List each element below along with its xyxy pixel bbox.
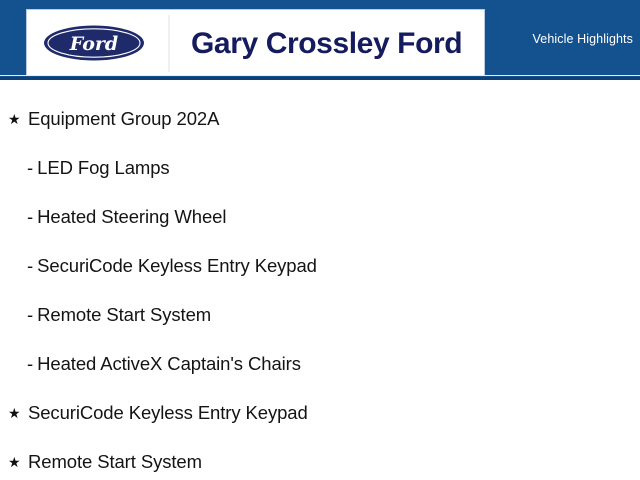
highlight-label: SecuriCode Keyless Entry Keypad <box>37 255 317 277</box>
highlight-row: -LED Fog Lamps <box>0 143 640 192</box>
highlight-label: Equipment Group 202A <box>28 108 219 130</box>
dash-prefix: - <box>27 157 33 179</box>
logo-divider <box>168 15 170 72</box>
highlight-label: LED Fog Lamps <box>37 157 169 179</box>
dash-prefix: - <box>27 353 33 375</box>
dash-prefix: - <box>27 304 33 326</box>
highlight-label: Remote Start System <box>37 304 211 326</box>
highlight-row: -Heated Steering Wheel <box>0 192 640 241</box>
highlight-label: Remote Start System <box>28 451 202 473</box>
svg-text:Ford: Ford <box>69 33 118 55</box>
star-bullet-icon: ★ <box>8 455 28 469</box>
star-bullet-icon: ★ <box>8 406 28 420</box>
dash-prefix: - <box>27 206 33 228</box>
highlight-row: ★SecuriCode Keyless Entry Keypad <box>0 388 640 437</box>
highlight-label: Heated ActiveX Captain's Chairs <box>37 353 301 375</box>
ford-oval-logo-icon: Ford <box>43 24 145 62</box>
dash-prefix: - <box>27 255 33 277</box>
highlight-row: -Heated ActiveX Captain's Chairs <box>0 339 640 388</box>
dealer-logo-panel[interactable]: Ford Gary Crossley Ford <box>26 9 485 76</box>
vehicle-highlights-page: Ford Gary Crossley Ford Vehicle Highligh… <box>0 0 640 480</box>
page-title: Vehicle Highlights <box>533 32 633 46</box>
highlight-row: ★Equipment Group 202A <box>0 94 640 143</box>
header-hairline <box>0 75 640 76</box>
header-bottom-rule <box>0 77 640 80</box>
highlight-row: -Remote Start System <box>0 290 640 339</box>
highlight-label: SecuriCode Keyless Entry Keypad <box>28 402 308 424</box>
vehicle-highlights-list: ★Equipment Group 202A-LED Fog Lamps-Heat… <box>0 94 640 480</box>
star-bullet-icon: ★ <box>8 112 28 126</box>
highlight-label: Heated Steering Wheel <box>37 206 226 228</box>
highlight-row: -SecuriCode Keyless Entry Keypad <box>0 241 640 290</box>
highlight-row: ★Remote Start System <box>0 437 640 480</box>
page-header: Ford Gary Crossley Ford Vehicle Highligh… <box>0 0 640 79</box>
dealer-name: Gary Crossley Ford <box>191 22 471 66</box>
